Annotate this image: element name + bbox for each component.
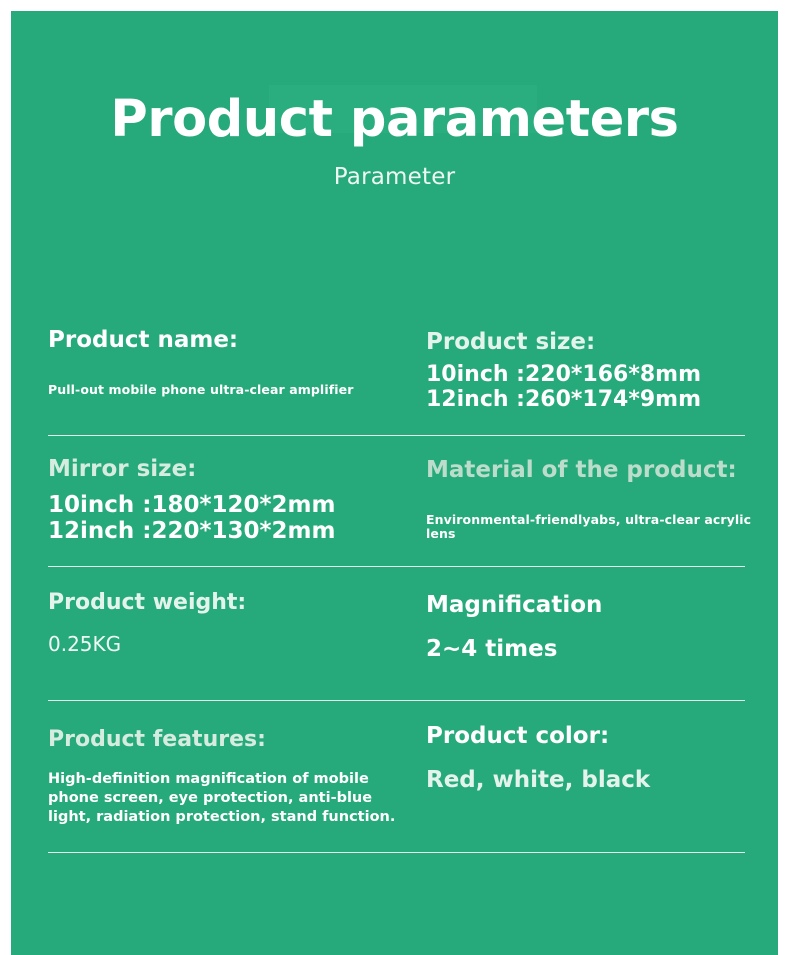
spec-value-line: phone screen, eye protection, anti-blue: [48, 789, 401, 808]
spec-value-line: 10inch :180*120*2mm: [48, 492, 401, 519]
spec-cell-product-weight: Product weight: 0.25KG: [11, 567, 401, 656]
page-title: Product parameters: [11, 11, 778, 146]
spec-value-line: Red, white, black: [426, 767, 778, 794]
spec-value: 10inch :180*120*2mm 12inch :220*130*2mm: [48, 492, 401, 545]
spec-label: Magnification: [426, 593, 778, 619]
spec-table: Product name: Pull-out mobile phone ultr…: [11, 298, 778, 853]
spec-value-line: 2~4 times: [426, 636, 778, 663]
spec-value-line: 0.25KG: [48, 633, 401, 656]
card-header: Product parameters Parameter: [11, 11, 778, 190]
spec-cell-material: Material of the product: Environmental-f…: [401, 436, 778, 542]
spec-cell-product-color: Product color: Red, white, black: [401, 701, 778, 793]
spec-value-line: light, radiation protection, stand funct…: [48, 808, 401, 827]
spec-value: Pull-out mobile phone ultra-clear amplif…: [48, 383, 401, 398]
spec-row: Product name: Pull-out mobile phone ultr…: [11, 298, 778, 436]
spec-value: Red, white, black: [426, 767, 778, 794]
spec-value: High-definition magnification of mobile …: [48, 770, 401, 827]
spec-label: Product size:: [426, 330, 778, 356]
spec-label: Mirror size:: [48, 457, 401, 483]
page-subtitle: Parameter: [11, 146, 778, 190]
spec-cell-product-size: Product size: 10inch :220*166*8mm 12inch…: [401, 298, 778, 413]
spec-row: Product features: High-definition magnif…: [11, 701, 778, 853]
spec-cell-product-name: Product name: Pull-out mobile phone ultr…: [11, 298, 401, 397]
product-parameters-card: Product parameters Parameter Product nam…: [11, 11, 778, 955]
spec-value-line: Environmental-friendlyabs, ultra-clear a…: [426, 513, 778, 542]
spec-label: Product features:: [48, 728, 401, 753]
spec-row: Mirror size: 10inch :180*120*2mm 12inch …: [11, 436, 778, 567]
spec-cell-magnification: Magnification 2~4 times: [401, 567, 778, 662]
row-divider: [48, 852, 745, 853]
spec-label: Product color:: [426, 724, 778, 750]
spec-value-line: High-definition magnification of mobile: [48, 770, 401, 789]
spec-row: Product weight: 0.25KG Magnification 2~4…: [11, 567, 778, 701]
spec-cell-product-features: Product features: High-definition magnif…: [11, 701, 401, 827]
spec-label: Product weight:: [48, 591, 401, 616]
spec-cell-mirror-size: Mirror size: 10inch :180*120*2mm 12inch …: [11, 436, 401, 545]
spec-label: Material of the product:: [426, 458, 778, 484]
spec-value-line: Pull-out mobile phone ultra-clear amplif…: [48, 383, 401, 398]
spec-value: 2~4 times: [426, 636, 778, 663]
spec-value: Environmental-friendlyabs, ultra-clear a…: [426, 513, 778, 542]
spec-value-line: 12inch :260*174*9mm: [426, 387, 778, 413]
spec-value-line: 10inch :220*166*8mm: [426, 362, 778, 388]
spec-value: 0.25KG: [48, 633, 401, 656]
spec-value: 10inch :220*166*8mm 12inch :260*174*9mm: [426, 362, 778, 413]
spec-label: Product name:: [48, 328, 401, 354]
spec-value-line: 12inch :220*130*2mm: [48, 518, 401, 545]
